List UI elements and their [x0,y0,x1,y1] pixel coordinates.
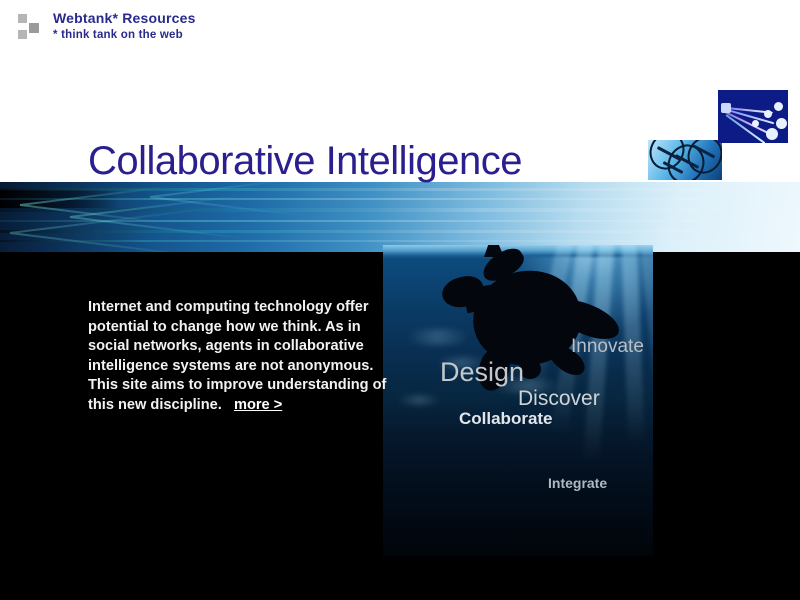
wave-line-2 [0,198,800,200]
more-link[interactable]: more > [234,397,282,413]
brand-tagline: * think tank on the web [53,29,183,41]
logo-square-1 [18,14,27,23]
three-squares-logo-icon [18,14,42,40]
fiber-connector [721,103,731,113]
fiber-optic-thumbnail[interactable] [718,90,788,143]
page-root: Webtank* Resources * think tank on the w… [0,0,800,600]
wave-line-1 [0,188,800,191]
keyword-innovate[interactable]: Innovate [571,336,644,358]
keyword-collaborate[interactable]: Collaborate [459,409,553,429]
fiber-glow-4 [766,128,778,140]
fiber-glow-3 [776,118,787,129]
intro-paragraph: Internet and computing technology offer … [88,299,386,413]
logo-square-3 [18,30,27,39]
wave-line-5 [0,230,800,233]
fiber-glow-2 [764,110,772,118]
wave-line-6 [0,240,800,242]
brand-block[interactable]: Webtank* Resources * think tank on the w… [18,10,438,50]
keyword-design[interactable]: Design [440,357,524,388]
logo-square-2 [29,23,39,33]
fiber-glow-5 [752,120,759,127]
keyword-integrate[interactable]: Integrate [548,475,607,491]
keyword-discover[interactable]: Discover [518,387,600,411]
brand-title: Webtank* Resources [53,10,196,26]
page-title: Collaborative Intelligence [88,138,522,184]
intro-paragraph-block: Internet and computing technology offer … [88,298,388,415]
fiber-glow-1 [774,102,783,111]
water-ripple-band [0,182,800,252]
dna-helix-thumbnail[interactable] [648,140,722,180]
